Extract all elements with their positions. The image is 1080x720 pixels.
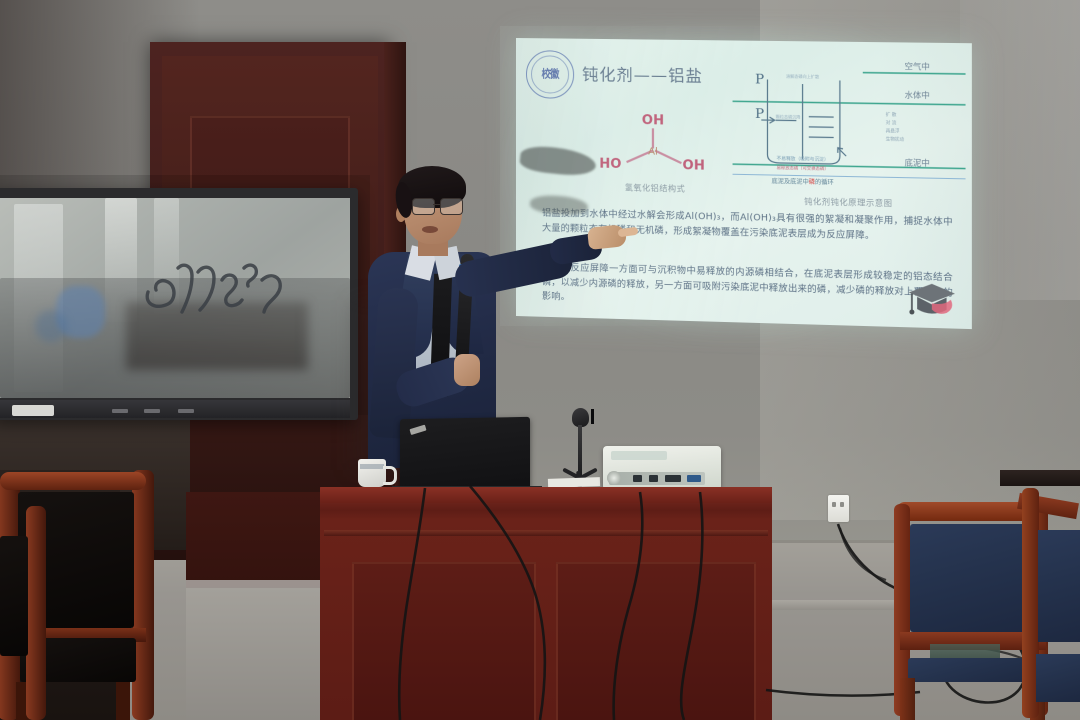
chair-leg	[116, 682, 130, 720]
slide-title: 钝化剂——铝盐	[582, 61, 703, 87]
svg-text:再悬浮: 再悬浮	[886, 127, 900, 134]
glasses-bridge	[433, 204, 440, 205]
chair-top-rail	[0, 472, 146, 490]
whiteboard-blue-reflection	[35, 310, 67, 342]
svg-text:OH: OH	[682, 158, 704, 174]
svg-text:Al: Al	[648, 146, 658, 157]
whiteboard-screen[interactable]	[0, 198, 350, 398]
svg-text:OH: OH	[642, 113, 664, 129]
chair-seat-cushion	[1036, 654, 1080, 702]
passivation-diagram: P P 空气中 水体中 底泥中 溶解态磷向上扩散 颗粒态磷沉降 不易释放（吸附与…	[730, 57, 967, 210]
wall-highlight-right	[960, 0, 1080, 300]
presenter-mouth	[422, 226, 438, 233]
svg-text:空气中: 空气中	[905, 61, 930, 72]
svg-text:P: P	[755, 72, 764, 87]
svg-text:水体中: 水体中	[905, 90, 930, 101]
svg-text:生物扰动: 生物扰动	[886, 135, 905, 142]
eyeglasses-icon	[412, 198, 464, 213]
seal-inner-text: 校徽	[542, 69, 559, 79]
svg-text:易释放态磷（可交换态磷）: 易释放态磷（可交换态磷）	[777, 164, 829, 172]
svg-text:扩 散: 扩 散	[886, 111, 897, 118]
chair-left-edge[interactable]	[0, 506, 48, 720]
lens-left	[412, 198, 435, 215]
whiteboard-handwriting	[140, 246, 310, 326]
svg-text:底泥及底泥中磷的循环: 底泥及底泥中磷的循环	[772, 177, 834, 186]
interactive-whiteboard[interactable]	[0, 188, 358, 420]
chair-post-right	[132, 470, 154, 720]
lens-right	[440, 198, 463, 215]
chair-post	[26, 506, 46, 720]
svg-text:P: P	[755, 107, 764, 122]
aluminium-hydroxide-structure: OH HO OH Al	[582, 107, 724, 184]
chair-right-edge[interactable]	[1018, 486, 1080, 720]
side-table	[1000, 470, 1080, 486]
svg-text:颗粒态磷沉降: 颗粒态磷沉降	[776, 113, 801, 120]
chair-leg	[900, 678, 915, 720]
chair-backrest-cushion	[910, 524, 1032, 632]
presenter-left-hand	[454, 354, 480, 386]
svg-text:底泥中: 底泥中	[905, 157, 930, 168]
graduation-cap-icon	[905, 278, 960, 323]
university-seal-icon: 校徽	[526, 50, 574, 99]
svg-text:对 流: 对 流	[886, 119, 897, 126]
svg-text:溶解态磷向上扩散: 溶解态磷向上扩散	[786, 73, 819, 80]
svg-text:HO: HO	[599, 157, 621, 173]
chair-backrest-cushion	[0, 536, 28, 656]
chair-backrest-cushion	[1038, 530, 1080, 642]
lecture-room-photo: 校徽 钝化剂——铝盐 OH HO OH Al 氢氧化铝结构式	[0, 0, 1080, 720]
